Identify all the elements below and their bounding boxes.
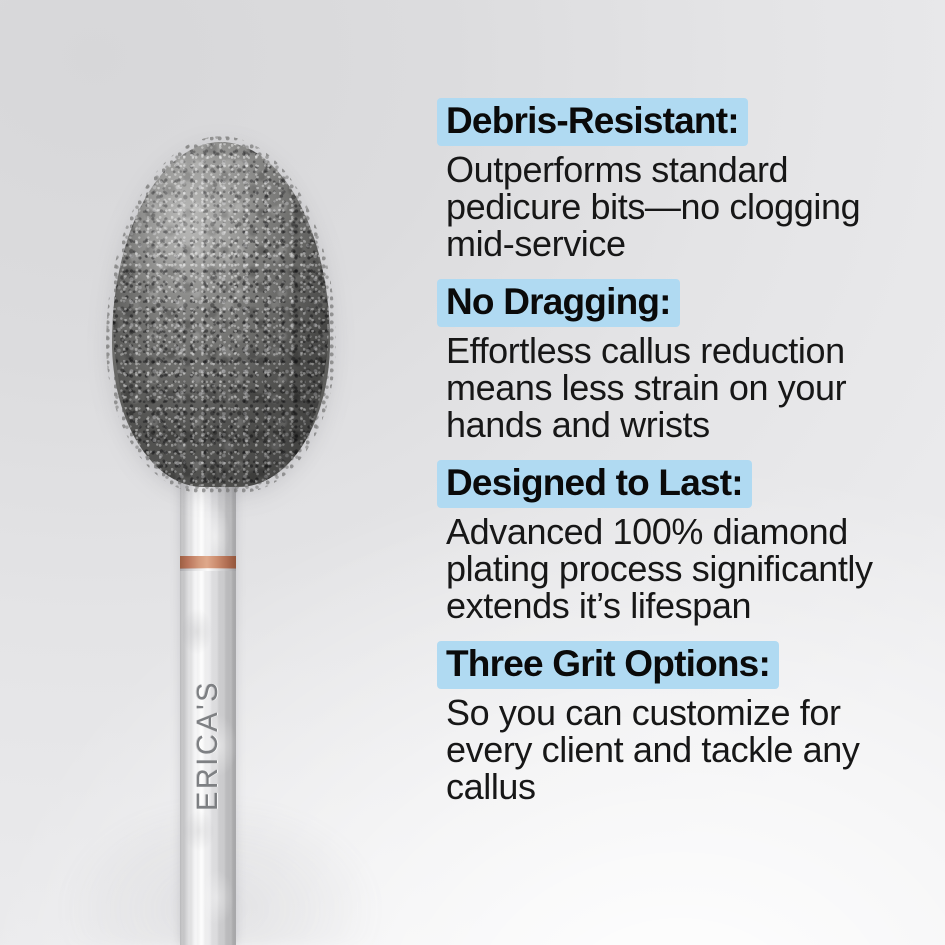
shank-reflection — [180, 470, 236, 945]
feature-heading-no-dragging: No Dragging: — [437, 279, 680, 327]
grit-identifier-band — [180, 556, 236, 569]
feature-heading-three-grit-options: Three Grit Options: — [437, 641, 779, 689]
feature-body-three-grit-options: So you can customize for every client an… — [437, 694, 907, 805]
feature-item-designed-to-last: Designed to Last: Advanced 100% diamond … — [437, 460, 907, 624]
head-silhouette — [112, 142, 330, 487]
diamond-grit-head — [112, 142, 330, 487]
product-feature-poster: ERICA'S Debris-Resistant: Outperforms st… — [0, 0, 945, 945]
feature-body-designed-to-last: Advanced 100% diamond plating process si… — [437, 513, 907, 624]
head-shading — [112, 142, 330, 487]
product-image: ERICA'S — [0, 0, 430, 945]
feature-body-debris-resistant: Outperforms standard pedicure bits—no cl… — [437, 151, 907, 262]
metal-shank — [180, 470, 236, 945]
feature-heading-designed-to-last: Designed to Last: — [437, 460, 752, 508]
feature-list: Debris-Resistant: Outperforms standard p… — [437, 98, 907, 805]
feature-body-no-dragging: Effortless callus reduction means less s… — [437, 332, 907, 443]
feature-item-no-dragging: No Dragging: Effortless callus reduction… — [437, 279, 907, 443]
feature-item-three-grit-options: Three Grit Options: So you can customize… — [437, 641, 907, 805]
feature-item-debris-resistant: Debris-Resistant: Outperforms standard p… — [437, 98, 907, 262]
feature-heading-debris-resistant: Debris-Resistant: — [437, 98, 748, 146]
